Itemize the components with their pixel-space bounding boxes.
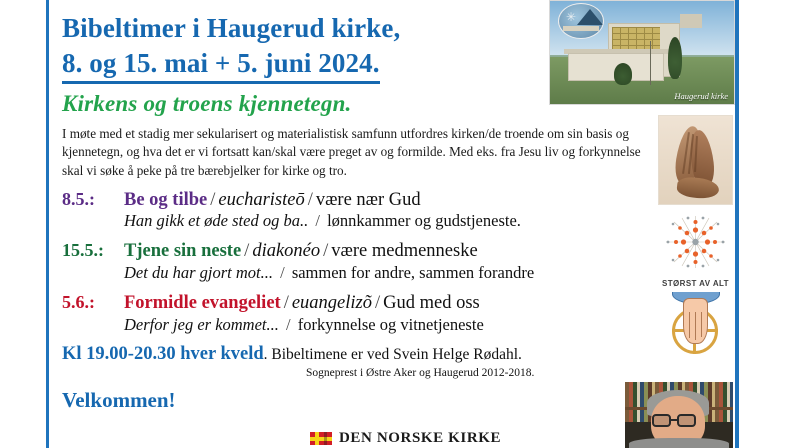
speaker-portrait-photo xyxy=(625,382,733,448)
session-meaning: være medmenneske xyxy=(331,241,477,262)
slash-separator: / xyxy=(372,293,383,314)
slash-separator: / xyxy=(241,241,252,262)
session-keyword: Be og tilbe xyxy=(124,190,207,211)
session-keyword: Tjene sin neste xyxy=(124,241,241,262)
session-greek-term: euangelizõ xyxy=(292,293,372,314)
slash-separator: / xyxy=(207,190,218,211)
slash-separator: / xyxy=(305,190,316,211)
session-theme: lønnkammer og gudstjeneste. xyxy=(327,211,521,230)
baptism-hand-illustration xyxy=(658,292,733,367)
session-date: 8.5.: xyxy=(62,189,124,209)
church-photo-caption: Haugerud kirke xyxy=(674,91,728,101)
slash-separator: / xyxy=(320,241,331,262)
session-meaning: Gud med oss xyxy=(383,293,480,314)
session-theme: sammen for andre, sammen forandre xyxy=(292,263,534,282)
session-scripture: Derfor jeg er kommet... xyxy=(124,315,279,334)
left-blue-rule xyxy=(46,0,49,448)
norwegian-cross-icon xyxy=(310,432,332,445)
session-scripture: Han gikk et øde sted og ba.. xyxy=(124,211,308,230)
starburst-icon xyxy=(658,212,733,272)
session-greek-term: eucharisteō xyxy=(218,190,304,211)
session-date: 15.5.: xyxy=(62,240,124,260)
session-theme: forkynnelse og vitnetjeneste xyxy=(298,315,484,334)
schedule-speaker: . Bibeltimene er ved Svein Helge Rødahl. xyxy=(264,346,522,363)
slash-separator: / xyxy=(312,211,323,230)
storst-av-alt-logo: STØRST AV ALT xyxy=(658,212,733,290)
session-date: 5.6.: xyxy=(62,292,124,312)
media-column: ✳ Haugerud kirke xyxy=(549,0,735,448)
church-org-label: DEN NORSKE KIRKE xyxy=(339,430,501,447)
church-detail-inset: ✳ xyxy=(558,3,604,39)
slash-separator: / xyxy=(281,293,292,314)
session-keyword: Formidle evangeliet xyxy=(124,293,281,314)
session-scripture: Det du har gjort mot... xyxy=(124,263,273,282)
right-blue-rule xyxy=(735,0,739,448)
slash-separator: / xyxy=(277,263,288,282)
title-line-1: Bibeltimer i Haugerud kirke, xyxy=(62,13,400,43)
title-line-2: 8. og 15. mai + 5. juni 2024. xyxy=(62,46,380,85)
session-greek-term: diakonéo xyxy=(252,241,320,262)
poster-canvas: Bibeltimer i Haugerud kirke, 8. og 15. m… xyxy=(0,0,800,448)
church-photo: ✳ Haugerud kirke xyxy=(549,0,735,105)
church-of-norway-logo: DEN NORSKE KIRKE xyxy=(310,430,501,447)
schedule-time: Kl 19.00-20.30 hver kveld xyxy=(62,344,264,364)
session-meaning: være nær Gud xyxy=(316,190,421,211)
praying-hands-image xyxy=(658,115,733,205)
slash-separator: / xyxy=(283,315,294,334)
storst-av-alt-label: STØRST AV ALT xyxy=(658,279,733,288)
